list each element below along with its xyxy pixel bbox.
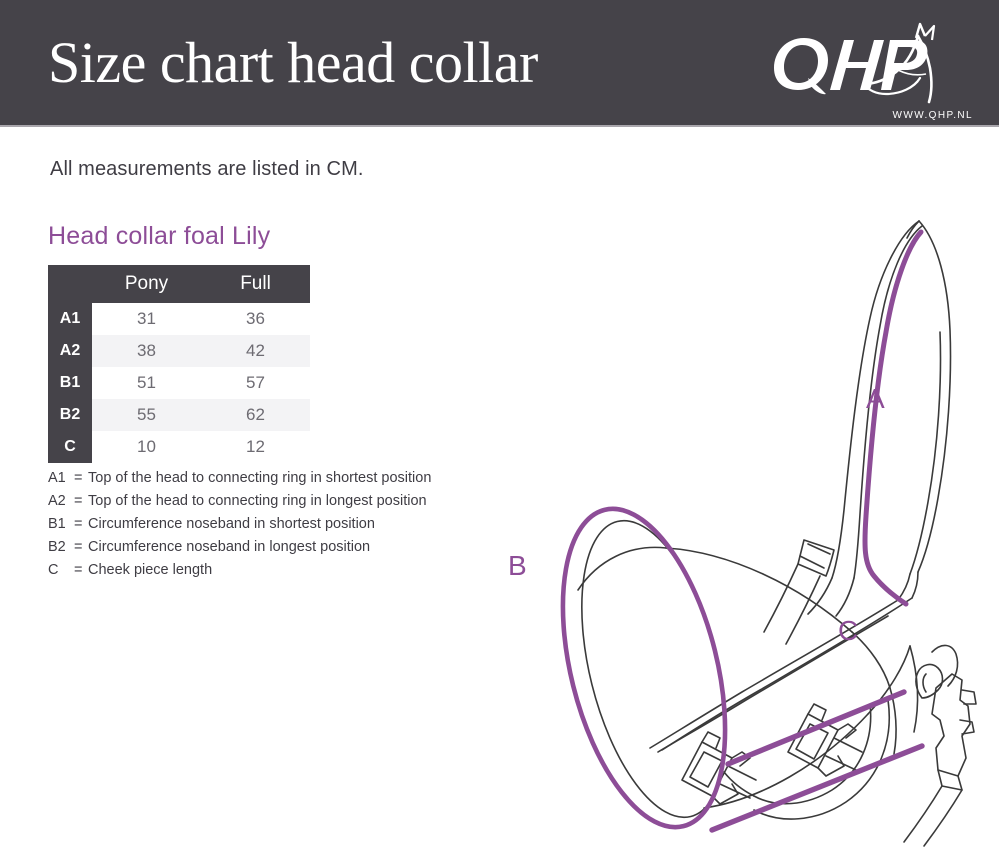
legend-key-b2: B2 xyxy=(48,539,74,555)
legend-equals: = xyxy=(74,493,88,509)
row-label-b1: B1 xyxy=(48,367,92,399)
connecting-ring xyxy=(916,665,943,698)
legend-text-b2: Circumference noseband in longest positi… xyxy=(88,539,370,555)
legend-text-a1: Top of the head to connecting ring in sh… xyxy=(88,470,431,486)
noseband-opening-outline xyxy=(534,492,755,844)
cell-b1-pony: 51 xyxy=(92,367,201,399)
legend-equals: = xyxy=(74,539,88,555)
cell-c-pony: 10 xyxy=(92,431,201,463)
qhp-logo xyxy=(768,22,973,106)
measure-line-c-upper xyxy=(728,692,904,764)
table-header-corner xyxy=(48,265,92,303)
table-header-pony: Pony xyxy=(92,265,201,303)
legend-key-a1: A1 xyxy=(48,470,74,486)
legend-text-c: Cheek piece length xyxy=(88,562,212,578)
cell-c-full: 12 xyxy=(201,431,310,463)
snap-hook xyxy=(932,645,976,790)
legend-key-b1: B1 xyxy=(48,516,74,532)
legend-text-a2: Top of the head to connecting ring in lo… xyxy=(88,493,427,509)
legend-text-b1: Circumference noseband in shortest posit… xyxy=(88,516,375,532)
label-a: A xyxy=(866,383,885,414)
product-name-heading: Head collar foal Lily xyxy=(48,222,270,251)
size-table-head: Pony Full xyxy=(48,265,310,303)
measurement-legend: A1 = Top of the head to connecting ring … xyxy=(48,470,431,585)
header-divider xyxy=(0,125,999,127)
size-table: Pony Full A1 31 36 A2 38 42 B1 51 57 B2 xyxy=(48,265,310,463)
legend-item: A2 = Top of the head to connecting ring … xyxy=(48,493,431,516)
noseband-top-strap xyxy=(650,598,912,750)
legend-item: B1 = Circumference noseband in shortest … xyxy=(48,516,431,539)
table-row: A1 31 36 xyxy=(48,303,310,335)
size-table-body: A1 31 36 A2 38 42 B1 51 57 B2 55 62 C 10 xyxy=(48,303,310,463)
strap-slider-left xyxy=(798,540,834,576)
legend-equals: = xyxy=(74,562,88,578)
table-row: B1 51 57 xyxy=(48,367,310,399)
crownpiece-strap xyxy=(832,221,951,578)
table-row: C 10 12 xyxy=(48,431,310,463)
halter-illustration: A B C xyxy=(470,180,999,851)
page-title: Size chart head collar xyxy=(48,22,538,104)
legend-equals: = xyxy=(74,470,88,486)
row-label-c: C xyxy=(48,431,92,463)
table-header-row: Pony Full xyxy=(48,265,310,303)
measure-line-a xyxy=(865,232,921,604)
label-b: B xyxy=(508,550,527,581)
logo-url-text: WWW.QHP.NL xyxy=(893,110,973,121)
throat-strap xyxy=(764,564,820,644)
qhp-wordmark xyxy=(774,38,927,94)
legend-key-a2: A2 xyxy=(48,493,74,509)
legend-item: C = Cheek piece length xyxy=(48,562,431,585)
cell-a1-pony: 31 xyxy=(92,303,201,335)
label-c: C xyxy=(838,615,858,646)
cell-a2-full: 42 xyxy=(201,335,310,367)
measurement-units-note: All measurements are listed in CM. xyxy=(50,158,364,181)
table-row: A2 38 42 xyxy=(48,335,310,367)
row-label-a1: A1 xyxy=(48,303,92,335)
cell-a1-full: 36 xyxy=(201,303,310,335)
row-label-b2: B2 xyxy=(48,399,92,431)
noseband-buckle-left xyxy=(682,732,756,804)
legend-equals: = xyxy=(74,516,88,532)
measure-line-b xyxy=(534,492,755,844)
cell-b2-pony: 55 xyxy=(92,399,201,431)
row-label-a2: A2 xyxy=(48,335,92,367)
table-row: B2 55 62 xyxy=(48,399,310,431)
lead-strap xyxy=(904,786,962,846)
page-header: Size chart head collar xyxy=(0,0,999,125)
cell-b1-full: 57 xyxy=(201,367,310,399)
legend-item: B2 = Circumference noseband in longest p… xyxy=(48,539,431,562)
size-chart-page: Size chart head collar xyxy=(0,0,999,851)
legend-key-c: C xyxy=(48,562,74,578)
legend-item: A1 = Top of the head to connecting ring … xyxy=(48,470,431,493)
table-header-full: Full xyxy=(201,265,310,303)
cell-b2-full: 62 xyxy=(201,399,310,431)
cell-a2-pony: 38 xyxy=(92,335,201,367)
